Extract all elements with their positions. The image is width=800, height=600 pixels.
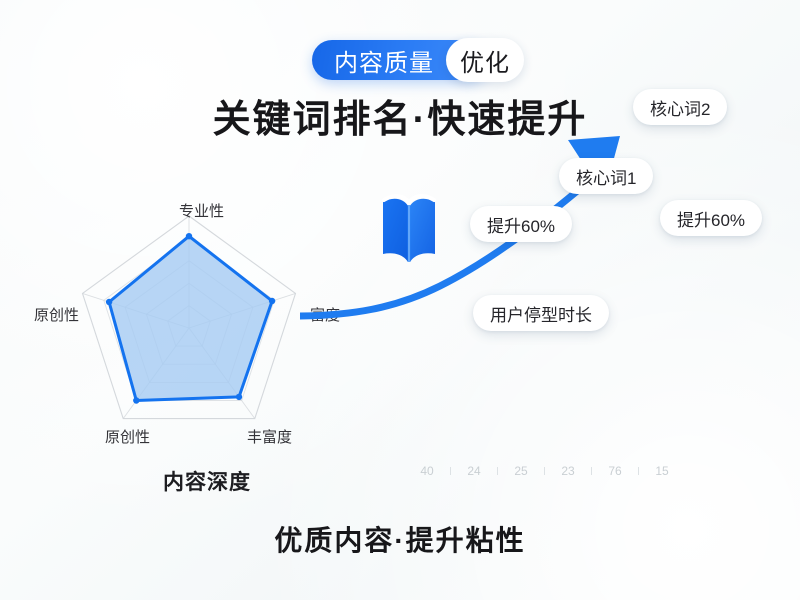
dwell-time-pill-label: 用户停型时长 xyxy=(490,301,592,326)
keyword-2-pill-label: 核心词2 xyxy=(650,95,710,120)
radar-series-polygon xyxy=(109,236,272,400)
axis-tick-value: 15 xyxy=(639,464,685,478)
axis-tick: 40 xyxy=(404,464,451,478)
uplift-right-pill[interactable]: 提升60% xyxy=(660,200,762,236)
radar-vertex xyxy=(106,299,112,305)
axis-tick-strip: 402425237615 xyxy=(404,458,792,484)
radar-label-professionalism: 专业性 xyxy=(179,200,224,221)
optimize-chip-label: 优化 xyxy=(460,43,510,78)
axis-tick: 25 xyxy=(498,464,545,478)
axis-tick: 24 xyxy=(451,464,498,478)
radar-label-richness: 丰富度 xyxy=(247,426,292,447)
keyword-1-pill[interactable]: 核心词1 xyxy=(559,158,653,194)
uplift-left-pill[interactable]: 提升60% xyxy=(470,206,572,242)
footer-caption: 优质内容·提升粘性 xyxy=(0,519,800,559)
axis-tick-value: 23 xyxy=(545,464,591,478)
radar-vertex xyxy=(133,397,139,403)
content-depth-caption: 内容深度 xyxy=(163,466,251,496)
keyword-2-pill[interactable]: 核心词2 xyxy=(633,89,727,125)
content-quality-pill[interactable]: 内容质量 优化 xyxy=(312,40,488,80)
axis-tick-value: 25 xyxy=(498,464,544,478)
poster-canvas: 内容质量 优化 关键词排名·快速提升 专业性 富度 丰富度 原创性 原创性 xyxy=(0,0,800,600)
axis-tick-value: 24 xyxy=(451,464,497,478)
axis-tick-value: 76 xyxy=(592,464,638,478)
dwell-time-pill[interactable]: 用户停型时长 xyxy=(473,295,609,331)
content-quality-label: 内容质量 xyxy=(334,43,434,78)
radar-vertex xyxy=(236,394,242,400)
radar-label-originality-bottom: 原创性 xyxy=(105,426,150,447)
axis-tick: 76 xyxy=(592,464,639,478)
uplift-left-pill-label: 提升60% xyxy=(487,212,555,237)
optimize-chip[interactable]: 优化 xyxy=(446,38,524,82)
axis-tick-value: 40 xyxy=(404,464,450,478)
radar-label-originality-left: 原创性 xyxy=(34,304,79,325)
axis-tick: 23 xyxy=(545,464,592,478)
uplift-right-pill-label: 提升60% xyxy=(677,206,745,231)
quality-badge: 内容质量 优化 xyxy=(0,40,800,80)
axis-tick: 15 xyxy=(639,464,685,478)
keyword-1-pill-label: 核心词1 xyxy=(576,164,636,189)
radar-vertex xyxy=(186,233,192,239)
radar-vertex xyxy=(269,298,275,304)
